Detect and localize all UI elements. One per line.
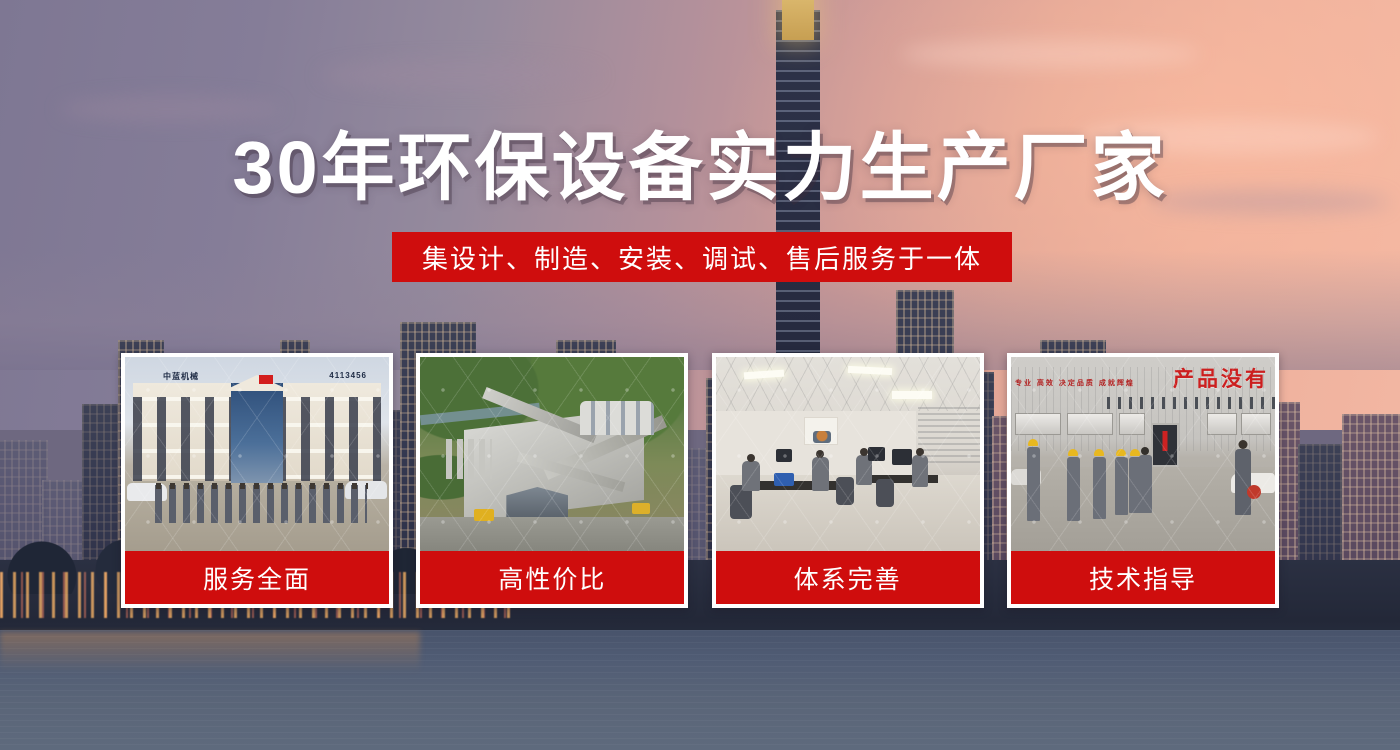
- photo-watermark-mesh: [716, 357, 980, 551]
- page-title: 30年环保设备实力生产厂家: [0, 131, 1400, 205]
- feature-card-system[interactable]: 体系完善: [712, 353, 984, 608]
- card-label-text: 服务全面: [203, 560, 311, 596]
- subtitle-text: 集设计、制造、安装、调试、售后服务于一体: [422, 239, 982, 276]
- photo-factory-workers: 产品没有 专业 高效 决定品质 成就辉煌: [1011, 357, 1275, 551]
- photo-company-building: 中蓝机械 4113456: [125, 357, 389, 551]
- river-reflection: [0, 632, 420, 672]
- card-label-service: 服务全面: [125, 551, 389, 604]
- card-label-text: 体系完善: [794, 560, 902, 596]
- tower-crown: [782, 0, 814, 40]
- photo-watermark-mesh: [1011, 357, 1275, 551]
- card-label-value: 高性价比: [420, 551, 684, 604]
- photo-office-interior: [716, 357, 980, 551]
- feature-card-list: 中蓝机械 4113456 服务全面: [121, 353, 1279, 608]
- feature-card-service[interactable]: 中蓝机械 4113456 服务全面: [121, 353, 393, 608]
- photo-watermark-mesh: [420, 357, 684, 551]
- card-label-system: 体系完善: [716, 551, 980, 604]
- card-label-text: 高性价比: [498, 560, 606, 596]
- promo-banner: 30年环保设备实力生产厂家 集设计、制造、安装、调试、售后服务于一体 中蓝机械 …: [0, 0, 1400, 750]
- card-label-guidance: 技术指导: [1011, 551, 1275, 604]
- photo-plant-aerial: [420, 357, 684, 551]
- feature-card-value[interactable]: 高性价比: [416, 353, 688, 608]
- feature-card-guidance[interactable]: 产品没有 专业 高效 决定品质 成就辉煌: [1007, 353, 1279, 608]
- photo-watermark-mesh: [125, 357, 389, 551]
- card-label-text: 技术指导: [1089, 560, 1197, 596]
- subtitle-bar: 集设计、制造、安装、调试、售后服务于一体: [392, 232, 1012, 282]
